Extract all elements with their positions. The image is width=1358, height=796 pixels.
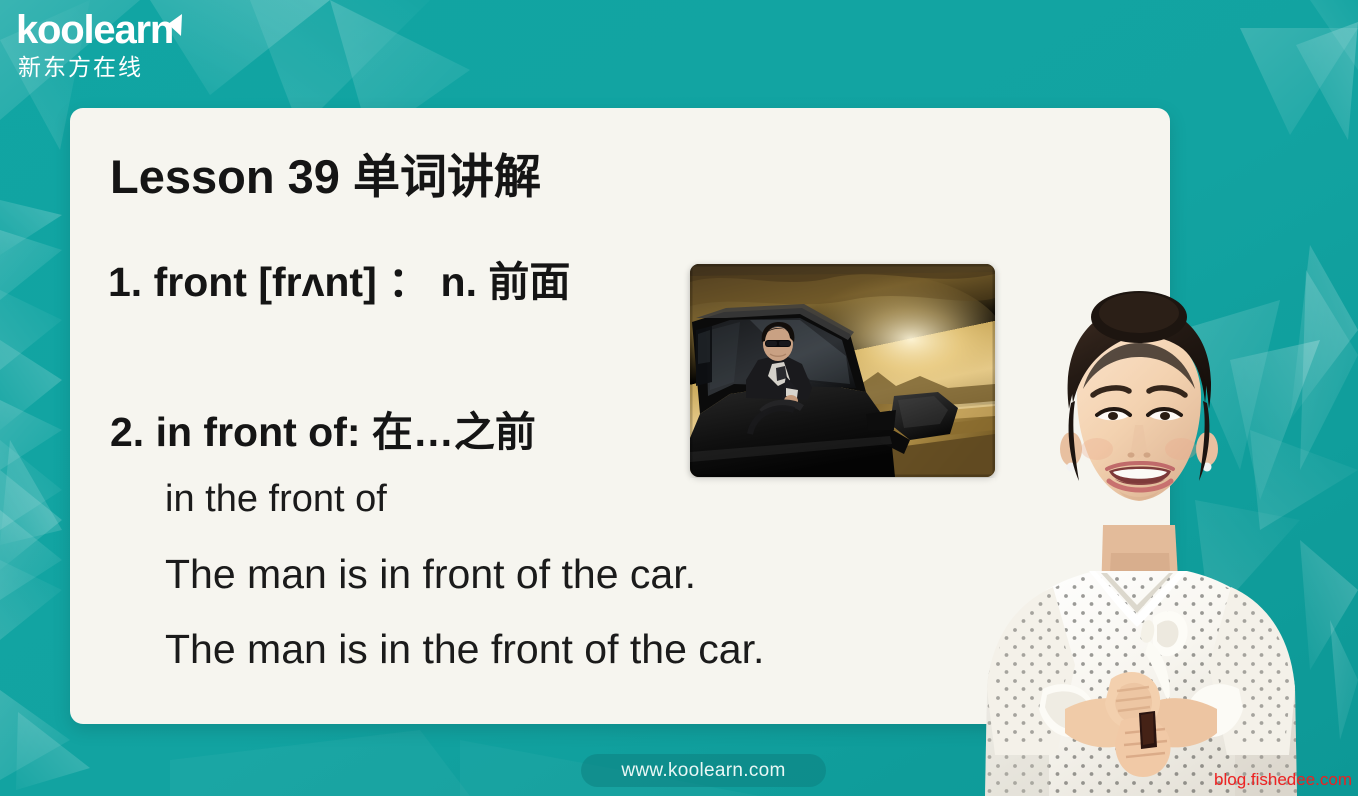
sub-line-1: in the front of xyxy=(165,478,387,521)
chevron-tick-icon xyxy=(162,12,184,38)
koolearn-logo: koolearn 新东方在线 xyxy=(10,8,240,92)
footer-url-pill: www.koolearn.com xyxy=(581,754,826,787)
logo-wordmark: koolearn xyxy=(10,8,240,52)
sub-line-2: The man is in front of the car. xyxy=(165,551,696,598)
female-instructor xyxy=(925,285,1358,796)
vocab-item-1: 1. front [frʌnt] ： n. 前面 xyxy=(108,248,570,308)
sub-line-3: The man is in the front of the car. xyxy=(165,626,764,673)
watermark: blog.fishedee.com xyxy=(1214,770,1352,790)
vocab-item-2: 2. in front of: 在…之前 xyxy=(110,398,536,458)
logo-wordmark-chinese: 新东方在线 xyxy=(10,52,240,82)
footer-url-text: www.koolearn.com xyxy=(621,760,785,782)
slide-title: Lesson 39 单词讲解 xyxy=(110,138,541,207)
